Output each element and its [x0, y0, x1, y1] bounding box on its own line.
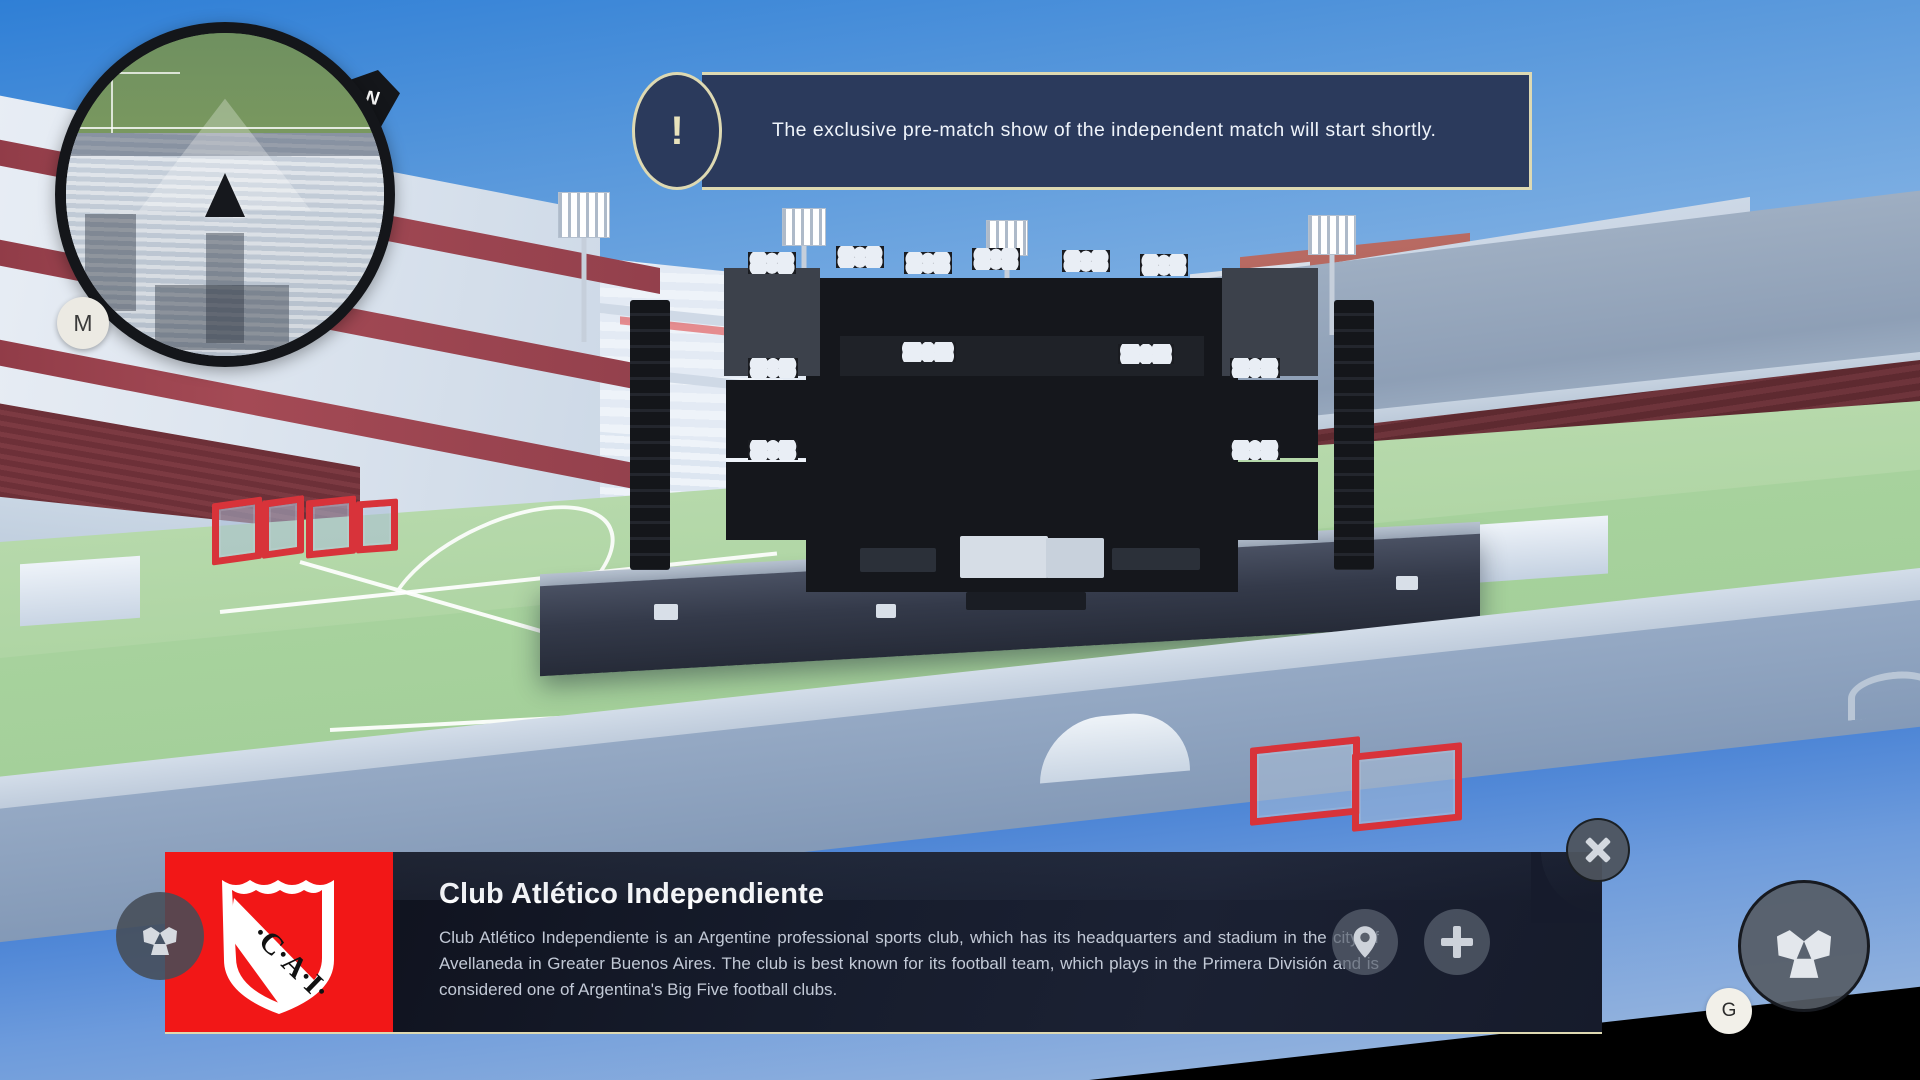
- notification-body: The exclusive pre-match show of the inde…: [702, 72, 1532, 190]
- foreground-barrier-gate-1: [1250, 736, 1360, 826]
- line-array-left: [630, 300, 670, 570]
- minimap-pitch-line-h: [111, 72, 181, 74]
- stage-riser-1: [960, 536, 1048, 578]
- minimap-pitch-line-v: [111, 72, 113, 133]
- light-cluster-4: [972, 248, 1020, 270]
- light-cluster-9: [748, 358, 798, 378]
- club-description: Club Atlético Independiente is an Argent…: [439, 925, 1379, 1002]
- add-button[interactable]: [1424, 909, 1490, 975]
- main-menu-button[interactable]: [1738, 880, 1870, 1012]
- location-pin-button[interactable]: [1332, 909, 1398, 975]
- light-cluster-2: [836, 246, 884, 268]
- minimap-expand-label: M: [73, 310, 92, 337]
- light-cluster-12: [1230, 440, 1280, 460]
- stage-roof-header: [806, 278, 1236, 336]
- light-cluster-1: [748, 252, 796, 274]
- light-cluster-3: [904, 252, 952, 274]
- line-array-right: [1334, 300, 1374, 570]
- minimap-structure-1: [85, 214, 136, 311]
- barrier-gate-3: [306, 495, 356, 558]
- trefoil-icon: [138, 914, 182, 958]
- goal-left: [20, 556, 140, 626]
- minimap-player-arrow: [205, 173, 245, 217]
- stage-side-panel-r3: [1222, 462, 1318, 540]
- barrier-gate-4: [356, 499, 398, 554]
- close-icon: [1583, 835, 1613, 865]
- goal-right: [1480, 516, 1608, 583]
- stage-floor-light-1: [654, 604, 678, 620]
- minimap-structure-3: [155, 285, 289, 350]
- stage-front-pit: [966, 592, 1086, 610]
- stage-floor-light-2: [876, 604, 896, 618]
- light-cluster-11: [1230, 358, 1280, 378]
- light-cluster-10: [748, 440, 798, 460]
- trefoil-icon: [1769, 911, 1839, 981]
- plus-icon: [1441, 926, 1473, 958]
- barrier-gate-1: [212, 496, 262, 565]
- gamepad-badge[interactable]: G: [1706, 988, 1752, 1034]
- stage-side-panel-l3: [726, 462, 822, 540]
- teams-button[interactable]: [116, 892, 204, 980]
- game-screen: N M The exclusive pre-match show of the …: [0, 0, 1920, 1080]
- light-cluster-5: [1062, 250, 1110, 272]
- stage-truss-bar: [806, 376, 1236, 402]
- floodlight-1: [558, 192, 610, 342]
- minimap-expand-badge[interactable]: M: [57, 297, 109, 349]
- foreground-barrier-gate-2: [1352, 742, 1462, 832]
- alert-icon-glyph: !: [670, 111, 683, 151]
- alert-icon: !: [632, 72, 722, 190]
- info-card-actions: [1332, 852, 1490, 1032]
- stage-floor-light-3: [1396, 576, 1418, 590]
- light-cluster-8: [1118, 344, 1174, 364]
- stage-equipment-1: [860, 548, 936, 572]
- light-cluster-7: [900, 342, 956, 362]
- gamepad-badge-label: G: [1722, 1000, 1737, 1022]
- stage-riser-2: [1046, 538, 1104, 578]
- map-pin-icon: [1350, 925, 1380, 959]
- info-card: ·C·A·I· Club Atlético Independiente Club…: [165, 852, 1602, 1034]
- club-crest-shield-icon: ·C·A·I·: [204, 864, 354, 1020]
- light-cluster-6: [1140, 254, 1188, 276]
- notification-message: The exclusive pre-match show of the inde…: [772, 118, 1436, 143]
- barrier-gate-2: [262, 495, 304, 559]
- club-info: Club Atlético Independiente Club Atlétic…: [393, 852, 1602, 1032]
- stage-equipment-2: [1112, 548, 1200, 570]
- minimap[interactable]: N M: [55, 22, 395, 367]
- close-button[interactable]: [1566, 818, 1630, 882]
